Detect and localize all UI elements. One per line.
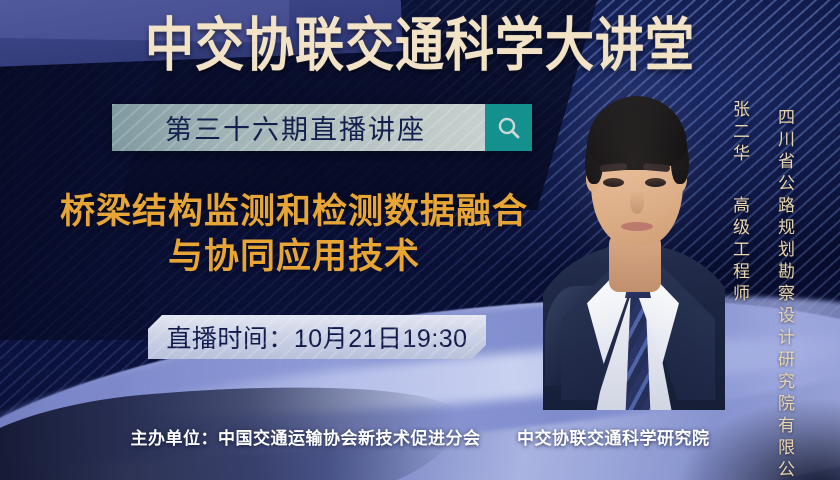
speaker-name: 张二华	[727, 100, 752, 166]
subtitle-label: 第三十六期直播讲座	[112, 108, 485, 147]
portrait-eye-left	[603, 178, 624, 187]
portrait-hair	[587, 96, 687, 170]
footer-organizer-secondary: 中交协联交通科学研究院	[517, 429, 710, 448]
search-icon	[496, 115, 522, 141]
portrait-mouth	[621, 222, 653, 231]
speaker-portrait	[543, 58, 725, 410]
footer-organizer-primary: 主办单位：中国交通运输协会新技术促进分会	[131, 429, 481, 448]
portrait-nose	[630, 190, 644, 214]
subtitle-banner: 第三十六期直播讲座	[112, 104, 532, 151]
live-time-label: 直播时间：10月21日19:30	[166, 319, 467, 355]
portrait-eye-right	[645, 178, 666, 187]
topic-line-2: 与协同应用技术	[18, 235, 570, 280]
search-button[interactable]	[485, 104, 532, 151]
lecture-topic: 桥梁结构监测和检测数据融合 与协同应用技术	[18, 190, 570, 280]
promo-poster: 中交协联交通科学大讲堂 第三十六期直播讲座 桥梁结构监测和检测数据融合 与协同应…	[0, 0, 840, 480]
footer-organizers: 主办单位：中国交通运输协会新技术促进分会 中交协联交通科学研究院	[0, 424, 840, 449]
speaker-role: 高级工程师	[727, 196, 752, 306]
live-time-badge: 直播时间：10月21日19:30	[148, 315, 486, 359]
topic-line-1: 桥梁结构监测和检测数据融合	[60, 192, 528, 231]
